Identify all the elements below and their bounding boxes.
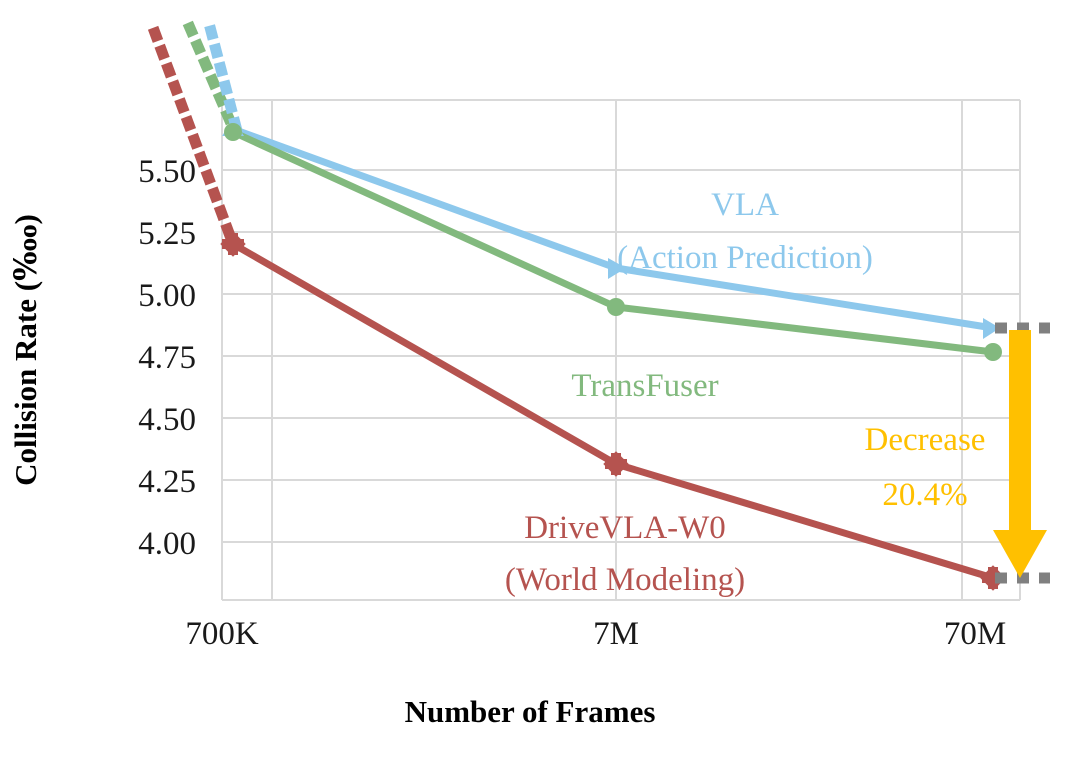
marker-transfuser-70m <box>984 343 1002 361</box>
marker-transfuser-7m <box>607 298 625 316</box>
series-label-drivevla-line1: DriveVLA-W0 <box>524 510 726 546</box>
y-axis-title: Collision Rate (‱) <box>8 214 43 486</box>
x-tick-label-700k: 700K <box>185 616 259 652</box>
x-tick-label-7m: 7M <box>593 616 639 652</box>
collision-rate-chart-figure: VLA (Action Prediction) TransFuser Drive… <box>0 0 1080 773</box>
x-tick-label-70m: 70M <box>944 616 1006 652</box>
decrease-label-line1: Decrease <box>865 422 986 458</box>
y-tick-label-4: 4.50 <box>138 402 196 438</box>
y-tick-label-0: 5.50 <box>138 154 196 190</box>
y-tick-label-6: 4.00 <box>138 526 196 562</box>
chart-canvas: VLA (Action Prediction) TransFuser Drive… <box>0 0 1080 773</box>
transfuser-dotted-extension <box>190 28 233 128</box>
series-label-drivevla-line2: (World Modeling) <box>505 562 745 598</box>
decrease-label-line2: 20.4% <box>882 477 967 513</box>
marker-transfuser-700k <box>224 123 242 141</box>
x-axis-title: Number of Frames <box>405 694 656 729</box>
y-tick-label-1: 5.25 <box>138 216 196 252</box>
y-tick-label-3: 4.75 <box>138 340 196 376</box>
series-label-vla-line2: (Action Prediction) <box>617 240 873 276</box>
series-label-transfuser: TransFuser <box>571 368 718 404</box>
y-tick-label-5: 4.25 <box>138 464 196 500</box>
y-tick-label-2: 5.00 <box>138 278 196 314</box>
series-label-vla-line1: VLA <box>711 187 779 223</box>
